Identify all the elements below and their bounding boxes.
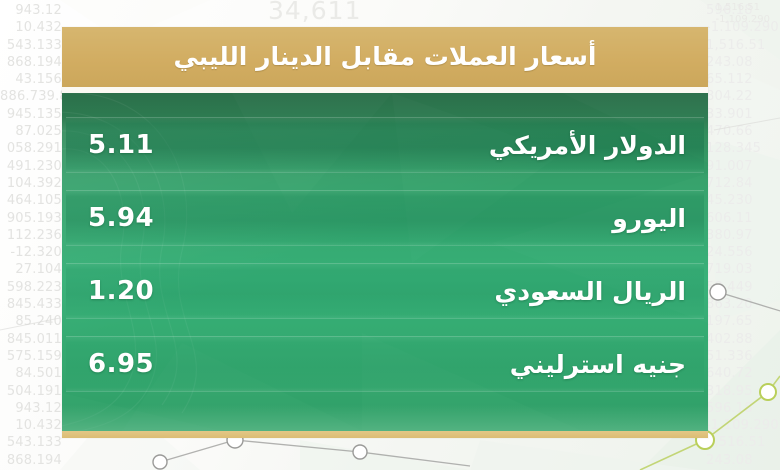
card-bottom-shade (62, 405, 708, 431)
currency-name: جنيه استرليني (510, 350, 686, 379)
currency-name: الريال السعودي (494, 277, 686, 306)
currency-rates-card: أسعار العملات مقابل الدينار الليبي (62, 27, 708, 438)
table-row[interactable]: جنيه استرليني 6.95 (66, 336, 704, 392)
table-row[interactable]: اليورو 5.94 (66, 190, 704, 246)
currency-value: 5.94 (88, 203, 154, 233)
table-row[interactable]: الريال السعودي 1.20 (66, 263, 704, 319)
card-footer-bar (62, 431, 708, 438)
currency-name: اليورو (612, 204, 686, 233)
currency-rows: الدولار الأمريكي 5.11 اليورو 5.94 الريال… (62, 93, 708, 392)
currency-value: 6.95 (88, 349, 154, 379)
card-header: أسعار العملات مقابل الدينار الليبي (62, 27, 708, 87)
currency-value: 5.11 (88, 130, 154, 160)
page-title: أسعار العملات مقابل الدينار الليبي (174, 42, 597, 73)
table-row[interactable]: الدولار الأمريكي 5.11 (66, 117, 704, 173)
currency-value: 1.20 (88, 276, 154, 306)
currency-name: الدولار الأمريكي (489, 131, 686, 160)
screenshot-root: 943.1210.432543.133868.19443.156886.739.… (0, 0, 780, 470)
card-body: الدولار الأمريكي 5.11 اليورو 5.94 الريال… (62, 93, 708, 431)
